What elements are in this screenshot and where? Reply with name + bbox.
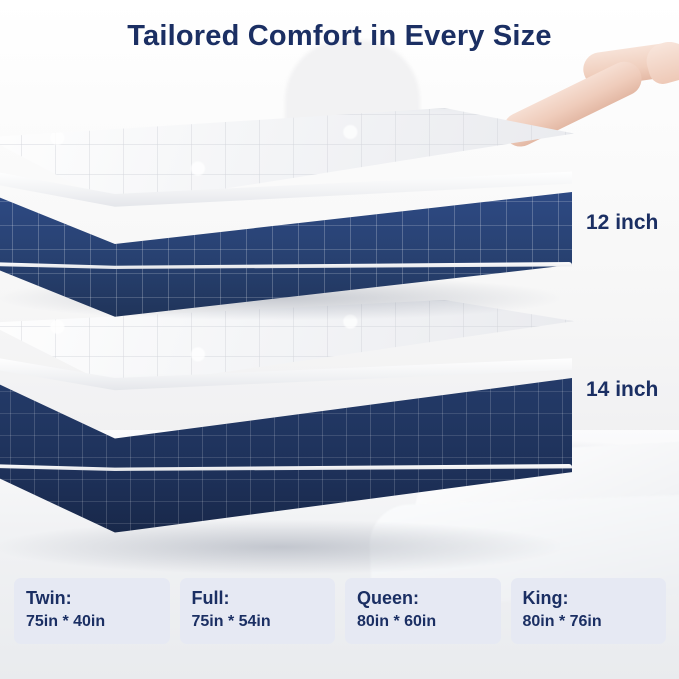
page-title: Tailored Comfort in Every Size — [0, 20, 679, 53]
size-chip-twin[interactable]: Twin: 75in * 40in — [14, 578, 170, 644]
lower-mattress-shadow — [0, 520, 560, 574]
size-chip-queen-dimensions: 80in * 60in — [357, 611, 489, 633]
size-chip-queen[interactable]: Queen: 80in * 60in — [345, 578, 501, 644]
size-chip-twin-title: Twin: — [26, 587, 158, 609]
size-chip-full-dimensions: 75in * 54in — [192, 611, 324, 633]
size-chip-king[interactable]: King: 80in * 76in — [511, 578, 667, 644]
size-chip-king-dimensions: 80in * 76in — [523, 611, 655, 633]
size-chip-full-title: Full: — [192, 587, 324, 609]
size-chip-queen-title: Queen: — [357, 587, 489, 609]
thickness-callout-bottom: 14 inch — [586, 378, 658, 402]
size-chip-list: Twin: 75in * 40in Full: 75in * 54in Quee… — [14, 578, 666, 644]
size-chip-full[interactable]: Full: 75in * 54in — [180, 578, 336, 644]
person-arm — [497, 42, 679, 192]
product-infographic: Tailored Comfort in Every Size 12 inch 1… — [0, 0, 679, 679]
thickness-callout-top: 12 inch — [586, 211, 658, 235]
size-chip-twin-dimensions: 75in * 40in — [26, 611, 158, 633]
size-chip-king-title: King: — [523, 587, 655, 609]
